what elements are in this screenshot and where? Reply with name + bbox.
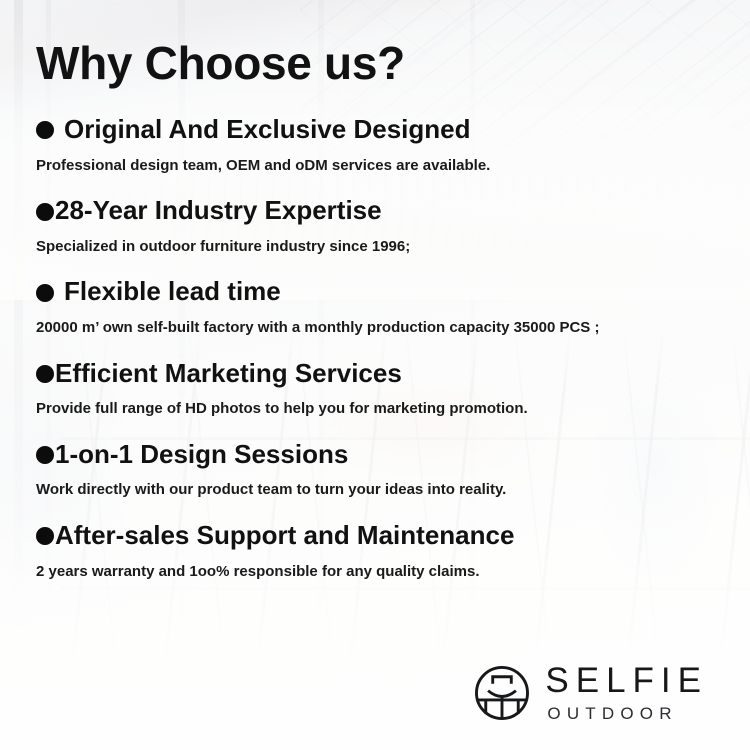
feature-item-original-design: Original And Exclusive Designed Professi… bbox=[36, 114, 720, 175]
feature-heading: Original And Exclusive Designed bbox=[64, 114, 470, 145]
feature-item-after-sales-support: After-sales Support and Maintenance 2 ye… bbox=[36, 520, 720, 581]
feature-item-industry-expertise: 28-Year Industry Expertise Specialized i… bbox=[36, 195, 720, 256]
feature-heading: 1-on-1 Design Sessions bbox=[55, 439, 348, 470]
bullet-dot-icon bbox=[36, 365, 54, 383]
feature-heading: Flexible lead time bbox=[64, 276, 281, 307]
bullet-dot-icon bbox=[36, 446, 54, 464]
bullet-dot-icon bbox=[36, 527, 54, 545]
feature-heading-row: 28-Year Industry Expertise bbox=[36, 195, 720, 226]
bullet-dot-icon bbox=[36, 121, 54, 139]
logo-wordmark: SELFIE OUTDOOR bbox=[545, 663, 708, 722]
why-choose-us-poster: Why Choose us? Original And Exclusive De… bbox=[0, 0, 750, 750]
feature-heading-row: Efficient Marketing Services bbox=[36, 358, 720, 389]
feature-item-flexible-lead-time: Flexible lead time 20000 m’ own self-bui… bbox=[36, 276, 720, 337]
feature-description: Work directly with our product team to t… bbox=[36, 480, 720, 500]
feature-heading: Efficient Marketing Services bbox=[55, 358, 402, 389]
brand-logo: SELFIE OUTDOOR bbox=[473, 663, 708, 722]
feature-heading-row: After-sales Support and Maintenance bbox=[36, 520, 720, 551]
feature-description: 20000 m’ own self-built factory with a m… bbox=[36, 318, 720, 338]
feature-item-marketing-services: Efficient Marketing Services Provide ful… bbox=[36, 358, 720, 419]
feature-heading-row: Flexible lead time bbox=[36, 276, 720, 307]
feature-heading-row: Original And Exclusive Designed bbox=[36, 114, 720, 145]
feature-description: Specialized in outdoor furniture industr… bbox=[36, 237, 720, 257]
bullet-dot-icon bbox=[36, 284, 54, 302]
feature-heading: 28-Year Industry Expertise bbox=[55, 195, 382, 226]
feature-heading: After-sales Support and Maintenance bbox=[55, 520, 514, 551]
feature-item-design-sessions: 1-on-1 Design Sessions Work directly wit… bbox=[36, 439, 720, 500]
feature-description: Provide full range of HD photos to help … bbox=[36, 399, 720, 419]
feature-description: 2 years warranty and 1oo% responsible fo… bbox=[36, 562, 720, 582]
bullet-dot-icon bbox=[36, 203, 54, 221]
poster-content: Why Choose us? Original And Exclusive De… bbox=[0, 0, 750, 750]
selfie-circle-chair-mark-icon bbox=[473, 664, 531, 722]
page-title: Why Choose us? bbox=[36, 40, 720, 86]
feature-description: Professional design team, OEM and oDM se… bbox=[36, 156, 720, 176]
logo-brand-subtitle: OUTDOOR bbox=[545, 705, 708, 722]
feature-heading-row: 1-on-1 Design Sessions bbox=[36, 439, 720, 470]
logo-brand-name: SELFIE bbox=[545, 663, 708, 698]
